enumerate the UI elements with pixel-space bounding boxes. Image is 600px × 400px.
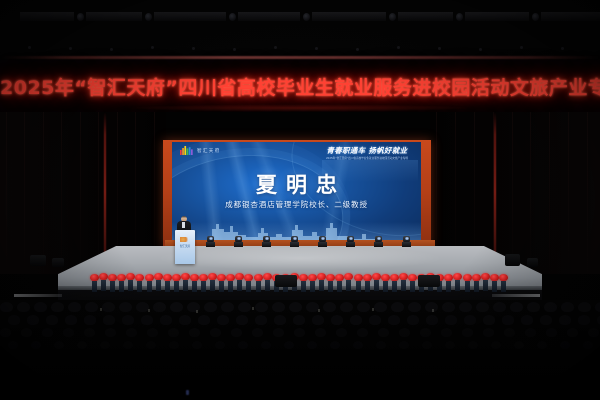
audience-head <box>238 302 251 312</box>
flower-bloom <box>490 274 499 281</box>
audience-head <box>441 328 452 337</box>
audience-head <box>160 315 172 325</box>
flower-arrangement <box>163 274 172 292</box>
phone-screen-glow <box>186 390 189 395</box>
audience-head <box>27 315 39 325</box>
audience-head <box>399 328 410 337</box>
flower-pot <box>137 281 142 292</box>
audience-head <box>293 315 305 325</box>
moving-head-light <box>206 236 215 247</box>
flower-arrangement <box>408 274 417 292</box>
rigging-point <box>28 46 31 49</box>
flower-bloom <box>208 273 217 280</box>
audience-highlight <box>372 308 374 311</box>
audience-head <box>445 315 457 325</box>
moving-head-base <box>234 242 243 247</box>
flower-arrangement <box>453 273 462 291</box>
audience-head <box>238 341 248 349</box>
truss-segment <box>398 12 453 21</box>
audience-head <box>0 302 13 312</box>
banner-underglow <box>70 104 530 112</box>
stage-stair-step-right <box>492 294 540 297</box>
audience-head <box>204 302 217 312</box>
audience-head <box>502 315 514 325</box>
audience-head <box>559 315 571 325</box>
audience-head <box>578 315 590 325</box>
audience-head <box>491 341 501 349</box>
moving-head-lens <box>293 237 297 240</box>
flower-bloom <box>135 274 144 281</box>
screen-slogan-block: 青春职通车 扬帆好就业 2025年“智汇天府”四川省高校毕业生就业服务进校园活动… <box>318 146 416 161</box>
flower-pot <box>165 281 170 292</box>
moving-head-lens <box>209 237 213 240</box>
flower-pot <box>365 281 370 292</box>
lighting-truss <box>0 12 600 24</box>
flower-pot <box>455 280 460 291</box>
flower-arrangement <box>299 274 308 292</box>
stage-monitor-left <box>275 275 297 287</box>
audience-head <box>170 302 183 312</box>
flower-bloom <box>217 274 226 281</box>
audience-head <box>261 341 271 349</box>
stage-stair-step-left <box>14 294 62 297</box>
flower-pot <box>219 281 224 292</box>
flower-pot <box>492 281 497 292</box>
moving-head-base <box>290 242 299 247</box>
audience-head <box>583 341 593 349</box>
screen-slogan-sub: 2025年“智汇天府”四川省高校毕业生就业服务进校园活动文旅产业专场 <box>318 157 416 161</box>
audience-head <box>374 302 387 312</box>
flower-pot <box>501 281 506 292</box>
audience-head <box>408 302 421 312</box>
flower-pot <box>210 280 215 291</box>
audience-head <box>391 302 404 312</box>
flower-pot <box>465 281 470 292</box>
flower-bloom <box>254 274 263 281</box>
flower-arrangement <box>363 274 372 292</box>
flower-pot <box>310 281 315 292</box>
truss-lamp-icon <box>389 13 396 21</box>
flower-arrangement <box>444 274 453 292</box>
audience-head <box>215 341 225 349</box>
audience-head <box>189 328 200 337</box>
flower-arrangement <box>145 274 154 292</box>
audience-head <box>407 315 419 325</box>
wing-case-left <box>52 258 64 267</box>
audience-head <box>312 315 324 325</box>
audience-head <box>0 328 11 337</box>
flower-bloom <box>499 274 508 281</box>
flower-arrangement <box>126 273 135 291</box>
flower-arrangement <box>99 273 108 291</box>
audience-head <box>168 328 179 337</box>
audience-head <box>192 341 202 349</box>
flower-arrangement <box>235 273 244 291</box>
audience-head <box>294 328 305 337</box>
curtain-fold <box>530 112 531 274</box>
flower-bloom <box>154 273 163 280</box>
stage-floor-sheen <box>120 248 480 274</box>
flower-pot <box>410 281 415 292</box>
flower-pot <box>356 281 361 292</box>
moving-head-lens <box>405 237 409 240</box>
audience-head <box>544 302 557 312</box>
audience-head <box>255 315 267 325</box>
audience-head <box>147 328 158 337</box>
audience-head <box>442 302 455 312</box>
curtain-fold <box>24 112 25 274</box>
audience-head <box>493 302 506 312</box>
flower-pot <box>483 280 488 291</box>
flower-arrangement <box>308 274 317 292</box>
flower-arrangement <box>244 274 253 292</box>
flower-bloom <box>408 274 417 281</box>
truss-lamp-icon <box>303 13 310 21</box>
audience-head <box>504 328 515 337</box>
audience-head <box>483 315 495 325</box>
moving-head-light <box>262 236 271 247</box>
audience-head <box>567 328 578 337</box>
podium-label: 智汇天府 <box>177 245 193 248</box>
moving-head-base <box>374 242 383 247</box>
audience-head <box>527 302 540 312</box>
flower-arrangement <box>499 274 508 292</box>
audience-head <box>540 315 552 325</box>
flower-pot <box>201 281 206 292</box>
flower-pot <box>392 281 397 292</box>
audience-head <box>105 328 116 337</box>
audience-head <box>330 341 340 349</box>
audience-head <box>84 328 95 337</box>
curtain-fold <box>80 112 81 274</box>
flower-bloom <box>335 274 344 281</box>
flower-bloom <box>472 274 481 281</box>
flower-arrangement <box>335 274 344 292</box>
flower-arrangement <box>372 273 381 291</box>
audience-head <box>336 328 347 337</box>
flower-bloom <box>363 274 372 281</box>
rigging-point <box>438 47 441 50</box>
flower-arrangement <box>208 273 217 291</box>
rigging-point <box>520 46 523 49</box>
flower-pot <box>401 280 406 291</box>
flower-arrangement <box>135 274 144 292</box>
audience-head <box>353 341 363 349</box>
flower-pot <box>128 280 133 291</box>
flower-bloom <box>444 274 453 281</box>
curtain-fold <box>587 112 588 274</box>
flower-arrangement <box>326 274 335 292</box>
flower-bloom <box>90 274 99 281</box>
flower-pot <box>328 281 333 292</box>
audience-head <box>514 341 524 349</box>
flower-pot <box>192 281 197 292</box>
audience-head <box>476 302 489 312</box>
curtain-fold <box>98 112 99 274</box>
moving-head-base <box>402 242 411 247</box>
curtain-fold <box>6 112 7 274</box>
rigging-point <box>233 48 236 51</box>
curtain-fold <box>568 112 569 274</box>
audience-head <box>595 302 600 312</box>
audience-head <box>289 302 302 312</box>
truss-lamp-icon <box>145 13 152 21</box>
audience-head <box>561 302 574 312</box>
moving-head-light <box>318 236 327 247</box>
audience-head <box>525 328 536 337</box>
flower-pot <box>337 281 342 292</box>
truss-segment <box>541 12 600 21</box>
rigging-point <box>274 46 277 49</box>
audience-head <box>464 315 476 325</box>
rigging-point <box>561 47 564 50</box>
moving-head-lens <box>321 237 325 240</box>
audience-head <box>65 315 77 325</box>
stage-photo-scene: 2025年“智汇天府”四川省高校毕业生就业服务进校园活动文旅产业专场 智汇天府 … <box>0 0 600 400</box>
audience-head <box>255 302 268 312</box>
rigging-point <box>151 46 154 49</box>
audience-head <box>284 341 294 349</box>
moving-head-lens <box>377 237 381 240</box>
truss-segment <box>238 12 300 21</box>
screen-logo-text: 智汇天府 <box>197 148 221 154</box>
rigging-point <box>479 48 482 51</box>
flower-arrangement <box>117 274 126 292</box>
flower-bloom <box>199 274 208 281</box>
audience-head <box>510 302 523 312</box>
audience-head <box>350 315 362 325</box>
curtain-fold <box>512 112 513 274</box>
flower-bloom <box>108 274 117 281</box>
truss-lamp-icon <box>532 13 539 21</box>
flower-pot <box>374 280 379 291</box>
wing-case-right <box>527 258 538 267</box>
flower-pot <box>265 280 270 291</box>
flower-bloom <box>453 273 462 280</box>
flower-pot <box>92 281 97 292</box>
flower-arrangement <box>490 274 499 292</box>
audience-head <box>31 341 41 349</box>
audience-head <box>315 328 326 337</box>
audience-head <box>46 315 58 325</box>
audience-head <box>100 341 110 349</box>
moving-head-light <box>402 236 411 247</box>
audience-head <box>426 315 438 325</box>
audience-head <box>331 315 343 325</box>
audience-head <box>123 341 133 349</box>
audience-highlight <box>318 309 320 312</box>
audience-head <box>77 341 87 349</box>
audience-head <box>51 302 64 312</box>
moving-head-light <box>346 236 355 247</box>
moving-head-lens <box>265 237 269 240</box>
audience-head <box>122 315 134 325</box>
flower-bloom <box>381 274 390 281</box>
curtain-fold <box>43 112 44 274</box>
audience-head <box>34 302 47 312</box>
flower-bloom <box>163 274 172 281</box>
flower-bloom <box>372 273 381 280</box>
podium: 智汇天府 <box>175 230 195 264</box>
audience-head <box>462 328 473 337</box>
audience-head <box>231 328 242 337</box>
audience-head <box>588 328 599 337</box>
audience-highlight <box>252 307 254 310</box>
audience-head <box>274 315 286 325</box>
audience-head <box>546 328 557 337</box>
curtain-fold <box>61 112 62 274</box>
audience-head <box>84 315 96 325</box>
audience-head <box>376 341 386 349</box>
audience-head <box>141 315 153 325</box>
screen-speaker-name: 夏明忠 <box>172 172 421 198</box>
audience-head <box>468 341 478 349</box>
flower-pot <box>183 280 188 291</box>
screen-logo: 智汇天府 <box>180 146 221 155</box>
audience-head <box>217 315 229 325</box>
flower-arrangement <box>217 274 226 292</box>
moving-head-light <box>234 236 243 247</box>
flower-arrangement <box>108 274 117 292</box>
flower-bloom <box>481 273 490 280</box>
truss-segment <box>20 12 74 21</box>
flower-bloom <box>308 274 317 281</box>
audience-head <box>307 341 317 349</box>
flower-arrangement <box>154 273 163 291</box>
flower-pot <box>256 281 261 292</box>
audience-highlight <box>148 309 150 312</box>
flower-pot <box>346 280 351 291</box>
audience-head <box>8 341 18 349</box>
audience-head <box>102 302 115 312</box>
audience-head <box>521 315 533 325</box>
audience-head <box>8 315 20 325</box>
truss-segment <box>465 12 529 21</box>
audience-area <box>0 300 600 400</box>
flower-arrangement <box>181 273 190 291</box>
led-screen: 智汇天府 青春职通车 扬帆好就业 2025年“智汇天府”四川省高校毕业生就业服务… <box>172 142 421 242</box>
flower-bloom <box>126 273 135 280</box>
rigging-point <box>356 48 359 51</box>
flower-arrangement <box>172 274 181 292</box>
ceiling <box>0 0 600 60</box>
truss-lamp-icon <box>229 13 236 21</box>
flower-arrangement <box>399 273 408 291</box>
truss-lamp-icon <box>456 13 463 21</box>
curtain-fold <box>549 112 550 274</box>
flower-pot <box>446 281 451 292</box>
audience-head <box>126 328 137 337</box>
flower-arrangement <box>263 273 272 291</box>
audience-head <box>187 302 200 312</box>
flower-bloom <box>299 274 308 281</box>
flower-bloom <box>399 273 408 280</box>
screen-speaker-title: 成都银杏酒店管理学院校长、二级教授 <box>172 200 421 210</box>
audience-head <box>169 341 179 349</box>
audience-head <box>399 341 409 349</box>
audience-head <box>236 315 248 325</box>
audience-highlight <box>100 308 102 311</box>
flower-pot <box>174 281 179 292</box>
audience-head <box>483 328 494 337</box>
audience-head <box>378 328 389 337</box>
audience-head <box>459 302 472 312</box>
flower-bloom <box>181 273 190 280</box>
audience-head <box>63 328 74 337</box>
proscenium-light-right <box>494 112 496 272</box>
flower-pot <box>474 281 479 292</box>
audience-head <box>179 315 191 325</box>
moving-head-base <box>318 242 327 247</box>
audience-head <box>323 302 336 312</box>
flower-pot <box>156 280 161 291</box>
wing-speaker-right <box>505 254 520 266</box>
flower-arrangement <box>344 273 353 291</box>
truss-segment <box>154 12 226 21</box>
flower-arrangement <box>190 274 199 292</box>
audience-head <box>21 328 32 337</box>
speaker-shirt <box>182 222 185 228</box>
audience-head <box>537 341 547 349</box>
audience-head <box>146 341 156 349</box>
flower-arrangement <box>317 273 326 291</box>
audience-head <box>210 328 221 337</box>
audience-head <box>54 341 64 349</box>
truss-lamp-icon <box>77 13 84 21</box>
flower-pot <box>246 281 251 292</box>
truss-segment <box>86 12 142 21</box>
audience-head <box>357 328 368 337</box>
rigging-point <box>315 47 318 50</box>
rigging-point <box>397 46 400 49</box>
ceiling-glow <box>0 56 600 59</box>
flower-arrangement <box>381 274 390 292</box>
audience-head <box>273 328 284 337</box>
audience-head <box>272 302 285 312</box>
audience-head <box>221 302 234 312</box>
flower-bloom <box>244 274 253 281</box>
flower-pot <box>237 280 242 291</box>
flower-arrangement <box>354 274 363 292</box>
flower-pot <box>228 281 233 292</box>
screen-slogan-main: 青春职通车 扬帆好就业 <box>318 146 416 155</box>
audience-head <box>422 341 432 349</box>
flower-pot <box>119 281 124 292</box>
flower-bloom <box>326 274 335 281</box>
flower-arrangement <box>481 273 490 291</box>
moving-head-base <box>262 242 271 247</box>
audience-head <box>340 302 353 312</box>
flower-pot <box>383 281 388 292</box>
audience-head <box>560 341 570 349</box>
audience-head <box>420 328 431 337</box>
flower-arrangement <box>463 274 472 292</box>
audience-head <box>17 302 30 312</box>
stage-monitor-right <box>418 275 440 287</box>
flower-arrangement <box>254 274 263 292</box>
audience-head <box>68 302 81 312</box>
flower-arrangement <box>226 274 235 292</box>
moving-head-lens <box>237 237 241 240</box>
flower-arrangement <box>472 274 481 292</box>
flower-bloom <box>117 274 126 281</box>
audience-head <box>388 315 400 325</box>
flower-pot <box>147 281 152 292</box>
flower-arrangement <box>390 274 399 292</box>
rigging-point <box>69 47 72 50</box>
wing-speaker-left <box>30 255 46 266</box>
audience-head <box>119 302 132 312</box>
